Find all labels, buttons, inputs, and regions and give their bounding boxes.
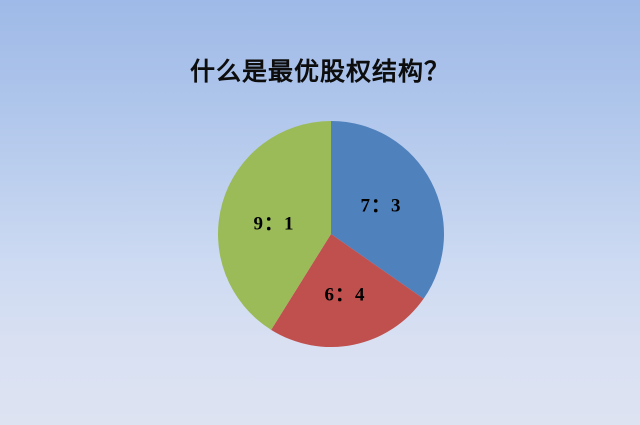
pie-chart: 7：3 6：4 9：1 xyxy=(0,0,640,425)
pie-slice-label-9-1: 9：1 xyxy=(253,209,294,236)
pie-slice-label-7-3: 7：3 xyxy=(360,191,401,218)
pie-slices xyxy=(218,121,444,347)
slide-canvas: 什么是最优股权结构？ 7：3 6：4 9：1 xyxy=(0,0,640,425)
pie-chart-svg xyxy=(0,0,640,425)
pie-slice-label-6-4: 6：4 xyxy=(324,280,365,307)
